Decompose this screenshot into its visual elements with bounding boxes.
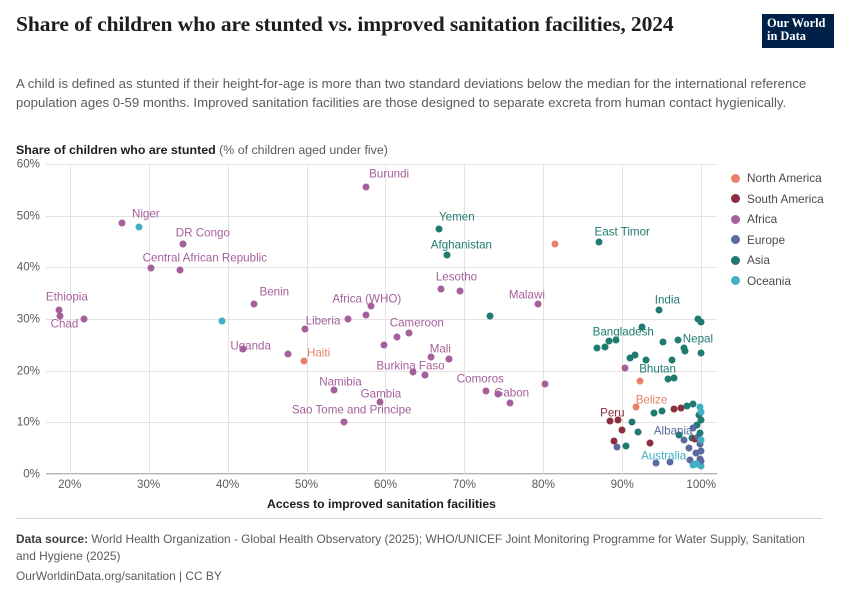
y-tick-label: 10% (6, 416, 40, 429)
data-point[interactable] (635, 428, 642, 435)
y-axis-title-main: Share of children who are stunted (16, 143, 216, 157)
data-point-label: Cameroon (390, 317, 444, 330)
data-point[interactable] (646, 440, 653, 447)
data-point[interactable] (362, 311, 369, 318)
data-point[interactable] (650, 410, 657, 417)
data-point[interactable] (594, 345, 601, 352)
data-point-label: Comoros (457, 373, 504, 386)
legend-swatch (731, 256, 740, 265)
data-point[interactable] (697, 429, 704, 436)
citation-line: OurWorldinData.org/sanitation | CC BY (16, 569, 222, 583)
legend-label: Europe (747, 233, 785, 247)
data-point-label: Liberia (306, 314, 341, 327)
data-point-labeled[interactable] (147, 265, 154, 272)
data-point[interactable] (660, 339, 667, 346)
data-point-label: Haiti (307, 347, 330, 360)
y-tick-label: 60% (6, 158, 40, 171)
data-source-prefix: Data source: (16, 532, 88, 546)
data-point[interactable] (671, 406, 678, 413)
data-point-label: DR Congo (176, 227, 230, 240)
data-point-labeled[interactable] (656, 307, 663, 314)
data-point-label: Ethiopia (46, 290, 88, 303)
data-point[interactable] (698, 416, 705, 423)
x-axis-title: Access to improved sanitation facilities (46, 497, 717, 511)
data-point-label: Benin (259, 285, 289, 298)
x-tick-label: 70% (453, 478, 476, 491)
data-point-labeled[interactable] (670, 375, 677, 382)
data-source-text: World Health Organization - Global Healt… (16, 532, 805, 563)
y-tick-label: 0% (6, 468, 40, 481)
data-point[interactable] (437, 286, 444, 293)
data-point-label: Bhutan (639, 363, 676, 376)
legend-swatch (731, 194, 740, 203)
data-point[interactable] (637, 378, 644, 385)
y-tick-label: 20% (6, 364, 40, 377)
data-point[interactable] (658, 407, 665, 414)
legend-label: North America (747, 171, 822, 185)
y-axis-title-note: (% of children aged under five) (219, 143, 388, 157)
legend-item[interactable]: North America (731, 168, 843, 189)
data-point[interactable] (613, 444, 620, 451)
legend-label: Asia (747, 253, 770, 267)
chart-page: Share of children who are stunted vs. im… (0, 0, 850, 600)
data-point[interactable] (631, 352, 638, 359)
data-point[interactable] (601, 344, 608, 351)
data-point-label: Belize (636, 394, 668, 407)
data-point[interactable] (380, 341, 387, 348)
y-gridline (46, 164, 717, 165)
y-tick-label: 50% (6, 209, 40, 222)
logo-line-1: Our World (767, 17, 829, 30)
x-tick-label: 60% (374, 478, 397, 491)
data-point[interactable] (136, 224, 143, 231)
legend-swatch (731, 174, 740, 183)
data-point[interactable] (80, 316, 87, 323)
legend-item[interactable]: South America (731, 189, 843, 210)
data-point[interactable] (487, 313, 494, 320)
data-source: Data source: World Health Organization -… (16, 531, 822, 565)
data-point-labeled[interactable] (179, 241, 186, 248)
data-point[interactable] (285, 351, 292, 358)
data-point[interactable] (680, 437, 687, 444)
data-point[interactable] (674, 336, 681, 343)
data-point[interactable] (698, 447, 705, 454)
legend-swatch (731, 276, 740, 285)
data-point-labeled[interactable] (362, 184, 369, 191)
x-tick-label: 40% (216, 478, 239, 491)
legend-item[interactable]: Europe (731, 230, 843, 251)
data-point-label: Burkina Faso (376, 359, 444, 372)
data-point-label: Africa (WHO) (332, 293, 401, 306)
legend-swatch (731, 235, 740, 244)
x-tick-label: 100% (686, 478, 716, 491)
data-point[interactable] (695, 316, 702, 323)
x-tick-label: 20% (58, 478, 81, 491)
legend-label: Oceania (747, 274, 791, 288)
data-point-labeled[interactable] (251, 300, 258, 307)
data-point[interactable] (445, 355, 452, 362)
data-point-label: Niger (132, 207, 160, 220)
data-point[interactable] (421, 372, 428, 379)
y-tick-label: 40% (6, 261, 40, 274)
data-point-label: Mali (430, 343, 451, 356)
data-point[interactable] (698, 349, 705, 356)
data-point-labeled[interactable] (595, 238, 602, 245)
data-point[interactable] (696, 403, 703, 410)
data-point-label: Lesotho (436, 270, 477, 283)
data-point[interactable] (394, 334, 401, 341)
data-point-labeled[interactable] (341, 418, 348, 425)
legend-item[interactable]: Africa (731, 209, 843, 230)
owid-logo: Our World in Data (762, 14, 834, 48)
data-point[interactable] (219, 318, 226, 325)
data-point-labeled[interactable] (483, 388, 490, 395)
data-point-labeled[interactable] (507, 399, 514, 406)
data-point[interactable] (345, 316, 352, 323)
y-axis-title: Share of children who are stunted (% of … (16, 143, 388, 157)
y-tick-label: 30% (6, 313, 40, 326)
data-point[interactable] (623, 442, 630, 449)
data-point-label: Gambia (361, 387, 402, 400)
data-point-labeled[interactable] (680, 345, 687, 352)
legend-item[interactable]: Asia (731, 250, 843, 271)
legend-label: Africa (747, 212, 777, 226)
footer-divider (16, 518, 822, 519)
scatter-plot-area: 20%30%40%50%60%70%80%90%100%0%10%20%30%4… (46, 164, 717, 474)
data-point-labeled[interactable] (436, 225, 443, 232)
data-point-label: Gabon (494, 387, 529, 400)
chart-legend: North AmericaSouth AmericaAfricaEuropeAs… (731, 168, 843, 291)
legend-swatch (731, 215, 740, 224)
x-tick-label: 50% (295, 478, 318, 491)
x-tick-label: 30% (137, 478, 160, 491)
data-point-labeled[interactable] (457, 287, 464, 294)
legend-label: South America (747, 192, 824, 206)
data-point[interactable] (698, 437, 705, 444)
data-point-label: Albania (654, 425, 693, 438)
data-point-label: Afghanistan (431, 239, 492, 252)
x-tick-label: 80% (532, 478, 555, 491)
data-point-labeled[interactable] (694, 460, 701, 467)
data-point[interactable] (541, 380, 548, 387)
data-point-label: Central African Republic (143, 251, 267, 264)
data-point-label: Australia (641, 450, 686, 463)
data-point-label: Namibia (319, 375, 362, 388)
data-point-label: Uganda (230, 339, 271, 352)
data-point[interactable] (177, 266, 184, 273)
data-point-label: Yemen (439, 210, 475, 223)
legend-item[interactable]: Oceania (731, 271, 843, 292)
page-title: Share of children who are stunted vs. im… (16, 10, 676, 38)
data-point-labeled[interactable] (444, 252, 451, 259)
data-point-label: Chad (51, 317, 79, 330)
data-point-label: Burundi (369, 168, 409, 181)
data-point-labeled[interactable] (118, 220, 125, 227)
data-point-label: Bangladesh (593, 325, 654, 338)
data-point-label: East Timor (594, 225, 649, 238)
y-gridline (46, 474, 717, 475)
data-point[interactable] (552, 241, 559, 248)
x-tick-label: 90% (611, 478, 634, 491)
data-point[interactable] (621, 365, 628, 372)
data-point-label: Malawi (509, 288, 545, 301)
logo-line-2: in Data (767, 30, 829, 43)
data-point-label: Nepal (683, 332, 713, 345)
data-point-label: India (655, 294, 680, 307)
chart-subtitle: A child is defined as stunted if their h… (16, 74, 822, 112)
data-point[interactable] (628, 419, 635, 426)
data-point-label: Peru (600, 407, 625, 420)
y-gridline (46, 319, 717, 320)
data-point-labeled[interactable] (406, 329, 413, 336)
data-point-label: Sao Tome and Principe (292, 403, 412, 416)
data-point[interactable] (619, 427, 626, 434)
